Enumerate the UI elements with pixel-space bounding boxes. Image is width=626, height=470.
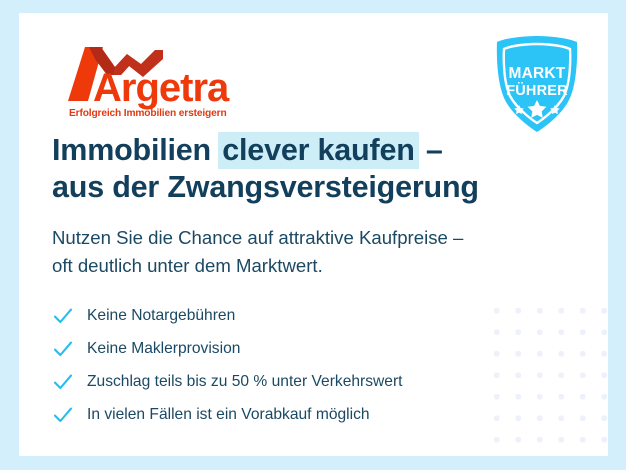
headline-highlight: clever kaufen [218, 132, 418, 169]
headline-line-1: Immobilien clever kaufen – [52, 132, 572, 169]
badge-line1: MARKT [509, 65, 566, 82]
logo-wordmark: Argetra [93, 66, 230, 110]
list-item: Keine Notargebühren [52, 300, 522, 332]
subtitle-line-1: Nutzen Sie die Chance auf attraktive Kau… [52, 224, 572, 252]
check-icon [52, 371, 74, 393]
check-icon [52, 404, 74, 426]
promo-banner: Argetra Erfolgreich Immobilien ersteiger… [0, 0, 626, 470]
list-item: Keine Maklerprovision [52, 333, 522, 365]
list-item-label: In vielen Fällen ist ein Vorabkauf mögli… [87, 405, 370, 425]
list-item-label: Keine Notargebühren [87, 306, 235, 326]
headline-line-2: aus der Zwangsversteigerung [52, 169, 572, 206]
logo-tagline: Erfolgreich Immobilien ersteigern [69, 108, 227, 119]
headline-prefix: Immobilien [52, 133, 219, 167]
subtitle: Nutzen Sie die Chance auf attraktive Kau… [52, 224, 572, 280]
argetra-logo-svg: Argetra Erfolgreich Immobilien ersteiger… [55, 45, 245, 125]
list-item-label: Keine Maklerprovision [87, 339, 240, 359]
banner-card: Argetra Erfolgreich Immobilien ersteiger… [19, 13, 608, 456]
check-icon [52, 338, 74, 360]
benefit-list: Keine Notargebühren Keine Maklerprovisio… [52, 300, 522, 432]
market-leader-badge-svg: MARKT FÜHRER [489, 34, 585, 135]
badge-line2: FÜHRER [506, 82, 568, 99]
list-item: Zuschlag teils bis zu 50 % unter Verkehr… [52, 366, 522, 398]
check-icon [52, 305, 74, 327]
market-leader-badge[interactable]: MARKT FÜHRER [489, 34, 585, 135]
list-item: In vielen Fällen ist ein Vorabkauf mögli… [52, 399, 522, 431]
list-item-label: Zuschlag teils bis zu 50 % unter Verkehr… [87, 372, 402, 392]
subtitle-line-2: oft deutlich unter dem Marktwert. [52, 252, 572, 280]
argetra-logo[interactable]: Argetra Erfolgreich Immobilien ersteiger… [55, 45, 245, 125]
headline-suffix: – [418, 133, 443, 167]
page-title: Immobilien clever kaufen – aus der Zwang… [52, 132, 572, 206]
